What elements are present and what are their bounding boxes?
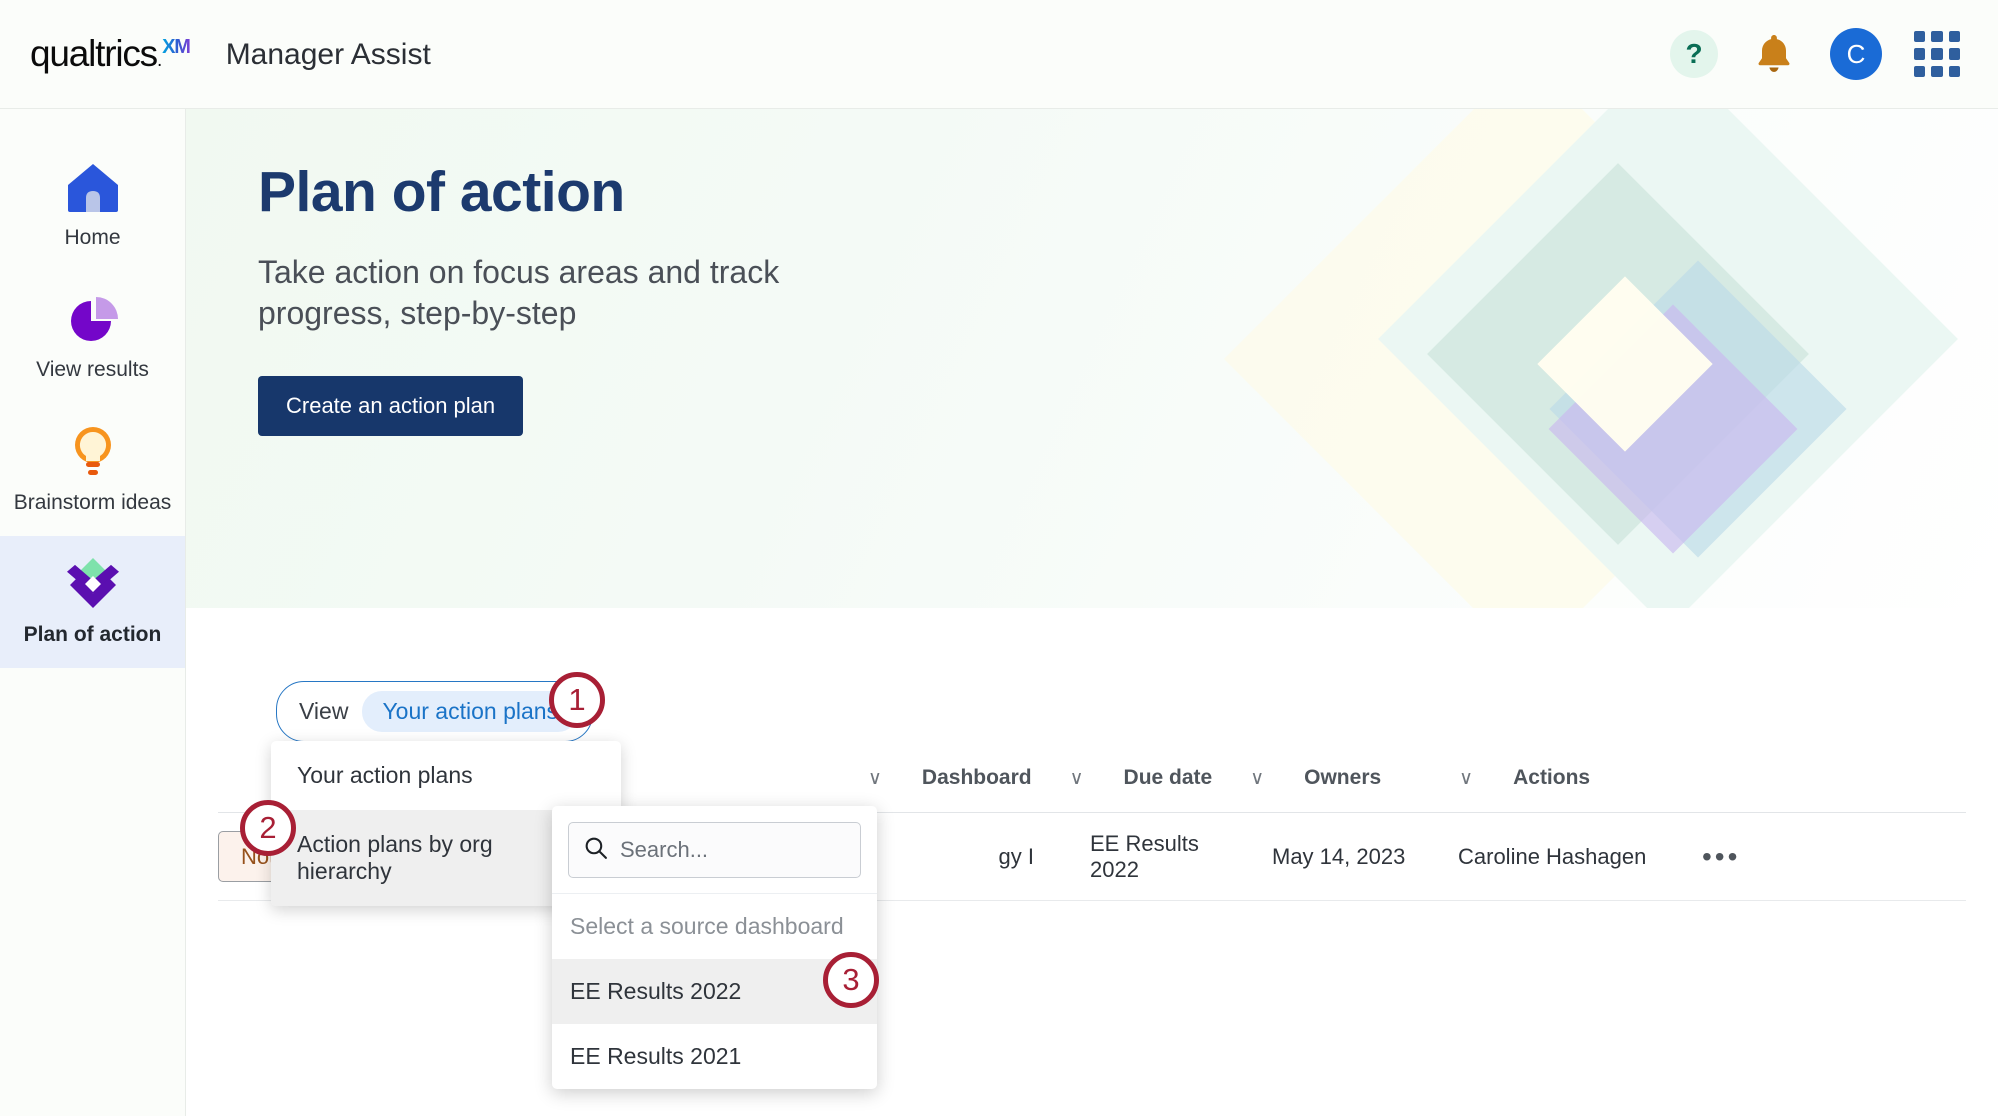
brand[interactable]: qualtrics.XM Manager Assist	[0, 33, 431, 75]
home-icon	[65, 157, 121, 217]
step-badge-1: 1	[549, 672, 605, 728]
step-badge-2: 2	[240, 800, 296, 856]
pie-chart-icon	[65, 289, 121, 349]
menu-item-your-action-plans[interactable]: Your action plans	[271, 741, 621, 810]
app-title: Manager Assist	[226, 38, 431, 72]
chevron-down-icon: ∨	[1070, 767, 1084, 790]
help-glyph: ?	[1685, 38, 1702, 70]
notifications-bell-icon[interactable]	[1750, 30, 1798, 78]
table-header-dashboard[interactable]: Dashboard ∨	[922, 766, 1124, 790]
sidebar-item-label: Plan of action	[24, 622, 162, 648]
top-bar: qualtrics.XM Manager Assist ? C	[0, 0, 1998, 109]
cell-owners: Caroline Hashagen	[1424, 844, 1676, 870]
create-action-plan-button[interactable]: Create an action plan	[258, 376, 523, 436]
app-grid-icon[interactable]	[1914, 31, 1960, 77]
qualtrics-logo: qualtrics.XM	[30, 33, 190, 75]
row-actions-menu-button[interactable]: •••	[1676, 843, 1740, 871]
lightbulb-icon	[67, 422, 119, 482]
submenu-search-wrapper	[552, 806, 877, 894]
sidebar-item-plan-of-action[interactable]: Plan of action	[0, 536, 185, 668]
view-toggle[interactable]: View Your action plans	[276, 681, 593, 742]
chevron-down-icon: ∨	[868, 767, 882, 790]
diamond-check-icon	[63, 554, 123, 614]
submenu-option-ee-results-2021[interactable]: EE Results 2021	[552, 1024, 877, 1089]
hero-subtitle: Take action on focus areas and track pro…	[258, 252, 818, 334]
cell-dashboard: EE Results 2022	[1046, 831, 1236, 883]
hero-banner: Plan of action Take action on focus area…	[186, 109, 1998, 608]
sidebar-item-view-results[interactable]: View results	[0, 271, 185, 403]
xm-superscript: XM	[162, 36, 190, 58]
main-content: ∨ Dashboard ∨ Due date ∨ Owners ∨ Action…	[186, 608, 1998, 1116]
help-icon[interactable]: ?	[1670, 30, 1718, 78]
avatar[interactable]: C	[1830, 28, 1882, 80]
sidebar-item-home[interactable]: Home	[0, 139, 185, 271]
top-bar-actions: ? C	[1670, 28, 1998, 80]
sidebar: Home View results Brainstorm ideas	[0, 109, 186, 1116]
step-badge-3: 3	[823, 952, 879, 1008]
view-toggle-label: View	[299, 698, 348, 725]
avatar-initial: C	[1847, 39, 1866, 70]
table-header-actions: Actions	[1513, 766, 1590, 790]
table-header-due-date[interactable]: Due date ∨	[1124, 766, 1305, 790]
table-header-sort-leading[interactable]: ∨	[866, 767, 922, 790]
ellipsis-icon: •••	[1702, 841, 1740, 872]
chevron-down-icon: ∨	[1459, 767, 1473, 790]
chevron-down-icon: ∨	[1250, 767, 1264, 790]
table-header-owners[interactable]: Owners ∨	[1304, 766, 1513, 790]
sidebar-item-label: Home	[64, 225, 120, 251]
sidebar-item-label: Brainstorm ideas	[14, 490, 172, 516]
submenu-group-label: Select a source dashboard	[552, 894, 877, 959]
cell-due-date: May 14, 2023	[1236, 844, 1424, 870]
sidebar-item-brainstorm-ideas[interactable]: Brainstorm ideas	[0, 404, 185, 536]
search-box[interactable]	[568, 822, 861, 878]
source-dashboard-submenu: Select a source dashboard EE Results 202…	[552, 806, 877, 1089]
search-icon	[583, 835, 608, 865]
sidebar-item-label: View results	[36, 357, 149, 383]
cell-description-tail: gy I	[986, 844, 1046, 870]
page-title: Plan of action	[258, 161, 1998, 224]
view-toggle-value[interactable]: Your action plans	[362, 691, 578, 732]
search-input[interactable]	[620, 837, 846, 863]
